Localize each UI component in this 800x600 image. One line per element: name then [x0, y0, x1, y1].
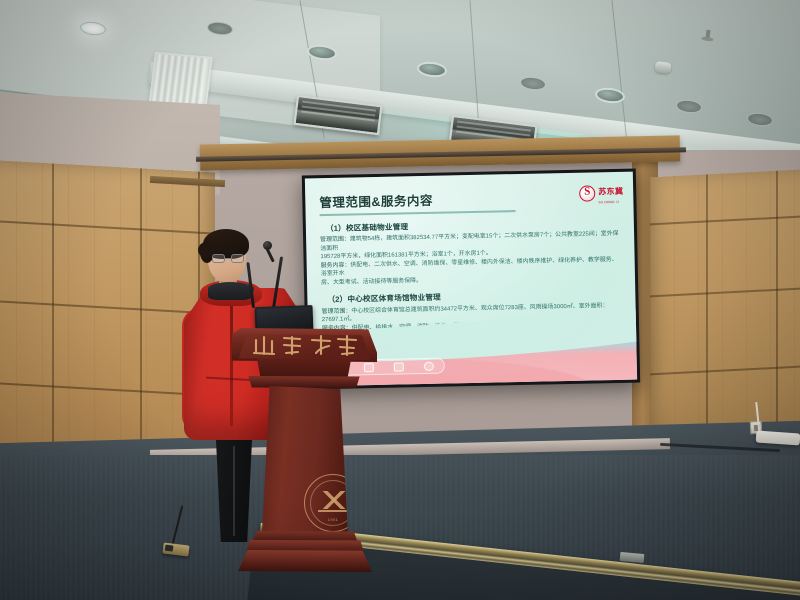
title-underline: [320, 210, 516, 216]
s-circle-icon: [579, 185, 595, 201]
glasses-icon: [212, 254, 244, 263]
lectern-base-tier-3: [238, 550, 372, 572]
company-logo: 苏东冀 SU DONG JI: [579, 181, 623, 205]
conference-room-photo: 苏东冀 SU DONG JI 管理范围&服务内容 （1）校区基础物业管理 管理范…: [0, 0, 800, 600]
gear-icon: [424, 361, 434, 370]
downlight-icon: [675, 98, 702, 114]
logo-en-text: SU DONG JI: [598, 200, 623, 205]
sprinkler-icon: [705, 30, 710, 39]
monitor-icon: [394, 362, 404, 371]
panel-seam: [0, 220, 215, 235]
lectern-ledge: [246, 376, 362, 388]
emblem-mountain-glyph: [316, 491, 352, 509]
presenter-collar: [208, 282, 252, 300]
downlight-icon: [519, 75, 546, 91]
line-label: 服务内容：: [321, 262, 351, 269]
line-label: 管理范围：: [322, 308, 352, 315]
smoke-detector-icon: [654, 61, 671, 74]
emblem-year: 1901: [305, 517, 361, 522]
slide-title: 管理范围&服务内容: [319, 186, 619, 211]
panel-seam: [0, 300, 215, 315]
logo-text-block: 苏东冀 SU DONG JI: [598, 181, 623, 205]
ceiling-speaker-icon: [416, 60, 448, 79]
downlight-icon: [746, 111, 773, 127]
logo-cn-text: 苏东冀: [598, 187, 623, 197]
line-text: 房、大型考试、活动接待等服务保障。: [321, 278, 422, 286]
line-label: 管理范围：: [320, 237, 350, 244]
lectern: 1901: [232, 328, 377, 580]
university-emblem-icon: 1901: [304, 474, 362, 532]
lectern-calligraphy-shandong-university: [250, 334, 362, 358]
lectern-body: 1901: [262, 386, 348, 536]
